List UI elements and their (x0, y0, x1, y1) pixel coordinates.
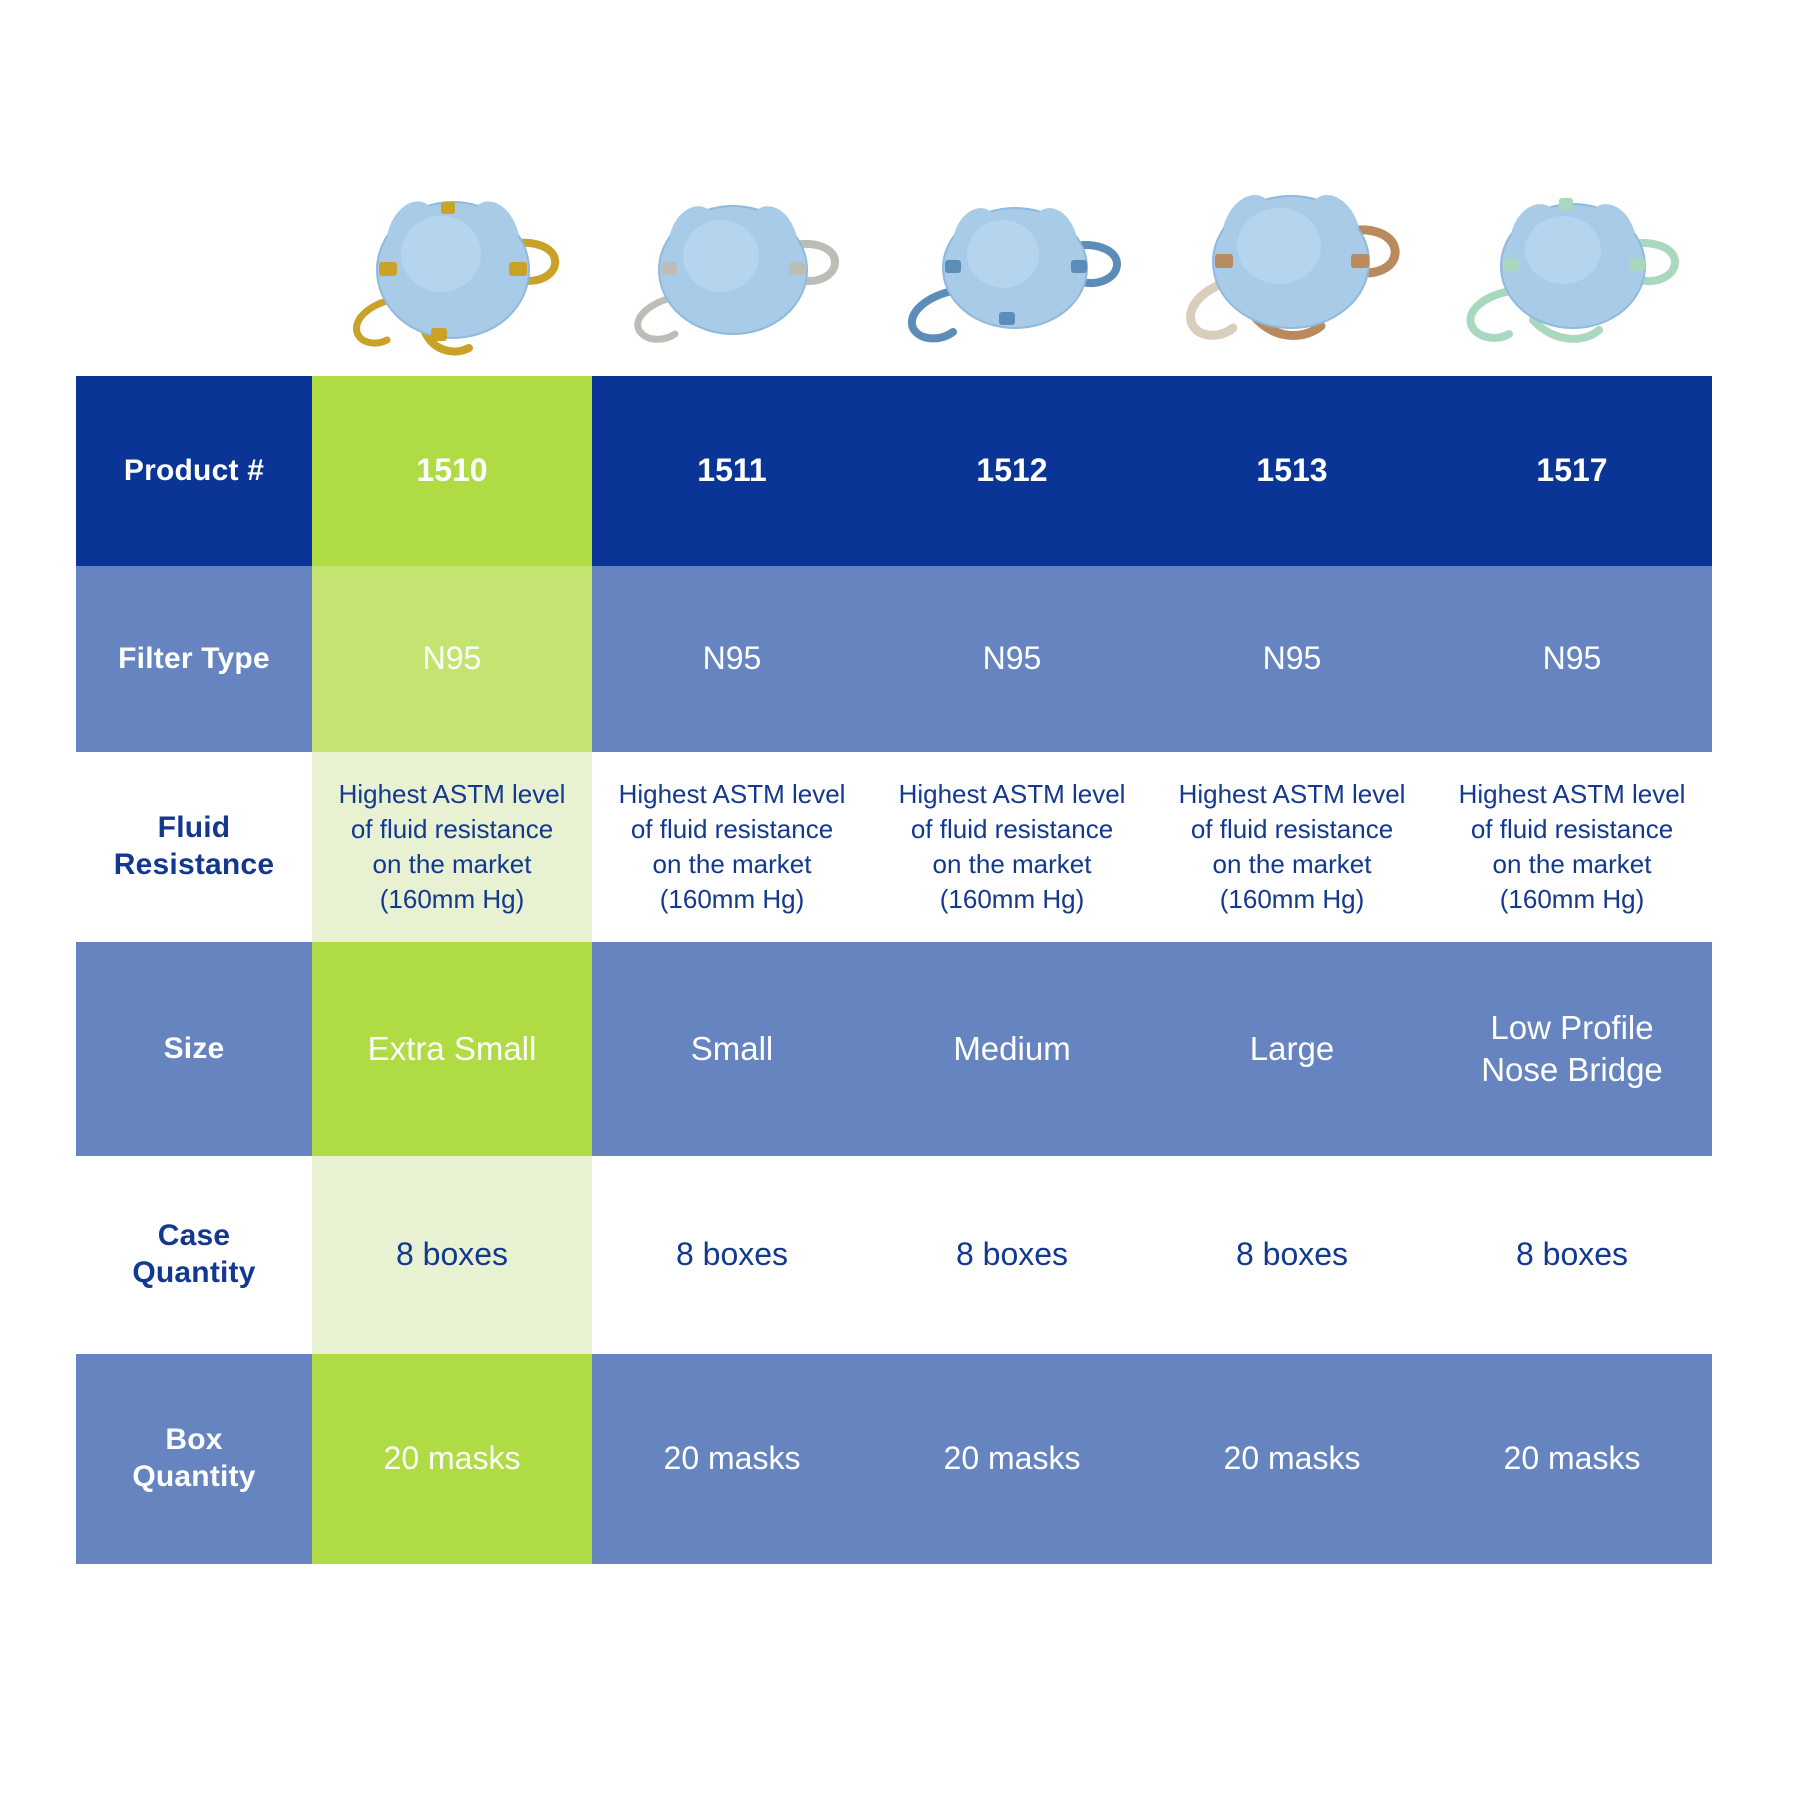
row-label-case-quantity: Case Quantity (76, 1156, 312, 1354)
cell-fluid-resistance-1511: Highest ASTM level of fluid resistance o… (592, 752, 872, 942)
cell-box-quantity-1511: 20 masks (592, 1354, 872, 1564)
table-row-fluid-resistance: Fluid Resistance Highest ASTM level of f… (76, 752, 1712, 942)
cell-case-quantity-1517: 8 boxes (1432, 1156, 1712, 1354)
cell-box-quantity-1517: 20 masks (1432, 1354, 1712, 1564)
cell-filter-type-1511: N95 (592, 566, 872, 752)
table-row-size: Size Extra Small Small Medium Large Low … (76, 942, 1712, 1156)
product-image-strip (313, 150, 1713, 375)
product-image-1510 (313, 150, 593, 375)
table-row-case-quantity: Case Quantity 8 boxes 8 boxes 8 boxes 8 … (76, 1156, 1712, 1354)
cell-size-1511: Small (592, 942, 872, 1156)
row-label-fluid-resistance: Fluid Resistance (76, 752, 312, 942)
cell-product-number-1510: 1510 (312, 376, 592, 566)
cell-product-number-1511: 1511 (592, 376, 872, 566)
product-comparison-table: Product # 1510 1511 1512 1513 1517 Filte… (76, 376, 1712, 1564)
cell-filter-type-1510: N95 (312, 566, 592, 752)
cell-size-1512: Medium (872, 942, 1152, 1156)
row-label-product-number: Product # (76, 376, 312, 566)
product-comparison-page: Product # 1510 1511 1512 1513 1517 Filte… (0, 0, 1800, 1800)
cell-fluid-resistance-1513: Highest ASTM level of fluid resistance o… (1152, 752, 1432, 942)
cell-filter-type-1513: N95 (1152, 566, 1432, 752)
cell-product-number-1517: 1517 (1432, 376, 1712, 566)
cell-filter-type-1512: N95 (872, 566, 1152, 752)
cell-box-quantity-1513: 20 masks (1152, 1354, 1432, 1564)
product-image-1513 (1153, 150, 1433, 375)
cell-fluid-resistance-1512: Highest ASTM level of fluid resistance o… (872, 752, 1152, 942)
cell-case-quantity-1511: 8 boxes (592, 1156, 872, 1354)
cell-case-quantity-1510: 8 boxes (312, 1156, 592, 1354)
mask-1511-icon (593, 150, 873, 375)
product-image-1512 (873, 150, 1153, 375)
table-row-product-number: Product # 1510 1511 1512 1513 1517 (76, 376, 1712, 566)
cell-size-1510: Extra Small (312, 942, 592, 1156)
cell-case-quantity-1513: 8 boxes (1152, 1156, 1432, 1354)
product-image-1511 (593, 150, 873, 375)
cell-size-1513: Large (1152, 942, 1432, 1156)
row-label-filter-type: Filter Type (76, 566, 312, 752)
mask-1513-icon (1153, 150, 1433, 375)
table-row-filter-type: Filter Type N95 N95 N95 N95 N95 (76, 566, 1712, 752)
table-row-box-quantity: Box Quantity 20 masks 20 masks 20 masks … (76, 1354, 1712, 1564)
cell-case-quantity-1512: 8 boxes (872, 1156, 1152, 1354)
mask-1512-icon (873, 150, 1153, 375)
cell-filter-type-1517: N95 (1432, 566, 1712, 752)
mask-1510-icon (313, 150, 593, 375)
cell-fluid-resistance-1510: Highest ASTM level of fluid resistance o… (312, 752, 592, 942)
cell-product-number-1512: 1512 (872, 376, 1152, 566)
cell-size-1517: Low Profile Nose Bridge (1432, 942, 1712, 1156)
row-label-box-quantity: Box Quantity (76, 1354, 312, 1564)
mask-1517-icon (1433, 150, 1713, 375)
cell-box-quantity-1510: 20 masks (312, 1354, 592, 1564)
row-label-size: Size (76, 942, 312, 1156)
cell-box-quantity-1512: 20 masks (872, 1354, 1152, 1564)
cell-fluid-resistance-1517: Highest ASTM level of fluid resistance o… (1432, 752, 1712, 942)
cell-product-number-1513: 1513 (1152, 376, 1432, 566)
product-image-1517 (1433, 150, 1713, 375)
